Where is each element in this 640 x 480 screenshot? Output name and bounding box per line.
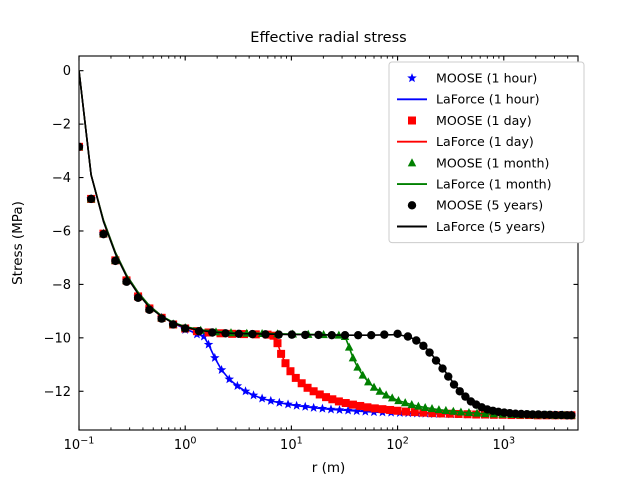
y-axis-label: Stress (MPa) (10, 201, 26, 285)
data-marker (408, 117, 416, 125)
x-tick-label: 101 (280, 436, 303, 454)
legend-label: LaForce (1 month) (436, 177, 552, 192)
legend-label: LaForce (1 hour) (436, 92, 540, 107)
x-tick-label: 100 (174, 436, 197, 454)
legend-box (389, 62, 584, 243)
y-tick-label: −12 (44, 385, 71, 400)
x-tick-label: 102 (386, 436, 409, 454)
legend-label: LaForce (1 day) (436, 134, 534, 149)
x-tick-label: 10−1 (64, 436, 95, 454)
data-marker (75, 143, 83, 151)
chart-title: Effective radial stress (250, 30, 406, 46)
data-marker (408, 201, 416, 209)
y-tick-label: −6 (52, 224, 71, 239)
y-tick-label: 0 (63, 64, 71, 79)
legend-label: MOOSE (5 years) (436, 198, 543, 213)
y-tick-label: −4 (52, 171, 71, 186)
y-tick-label: −10 (44, 331, 71, 346)
legend-label: MOOSE (1 day) (436, 113, 532, 128)
legend-label: MOOSE (1 month) (436, 155, 549, 170)
legend-label: LaForce (5 years) (436, 219, 545, 234)
x-axis-label: r (m) (312, 460, 346, 476)
y-tick-label: −8 (52, 278, 71, 293)
figure-canvas: 10−11001011021030−2−4−6−8−10−12Effective… (0, 0, 640, 480)
legend-layer: MOOSE (1 hour)LaForce (1 hour)MOOSE (1 d… (389, 62, 584, 243)
data-marker (87, 195, 95, 203)
legend-label: MOOSE (1 hour) (436, 71, 537, 86)
x-tick-label: 103 (492, 436, 515, 454)
data-marker (393, 330, 401, 338)
y-tick-label: −2 (52, 118, 71, 133)
plot-svg: 10−11001011021030−2−4−6−8−10−12Effective… (0, 0, 640, 480)
